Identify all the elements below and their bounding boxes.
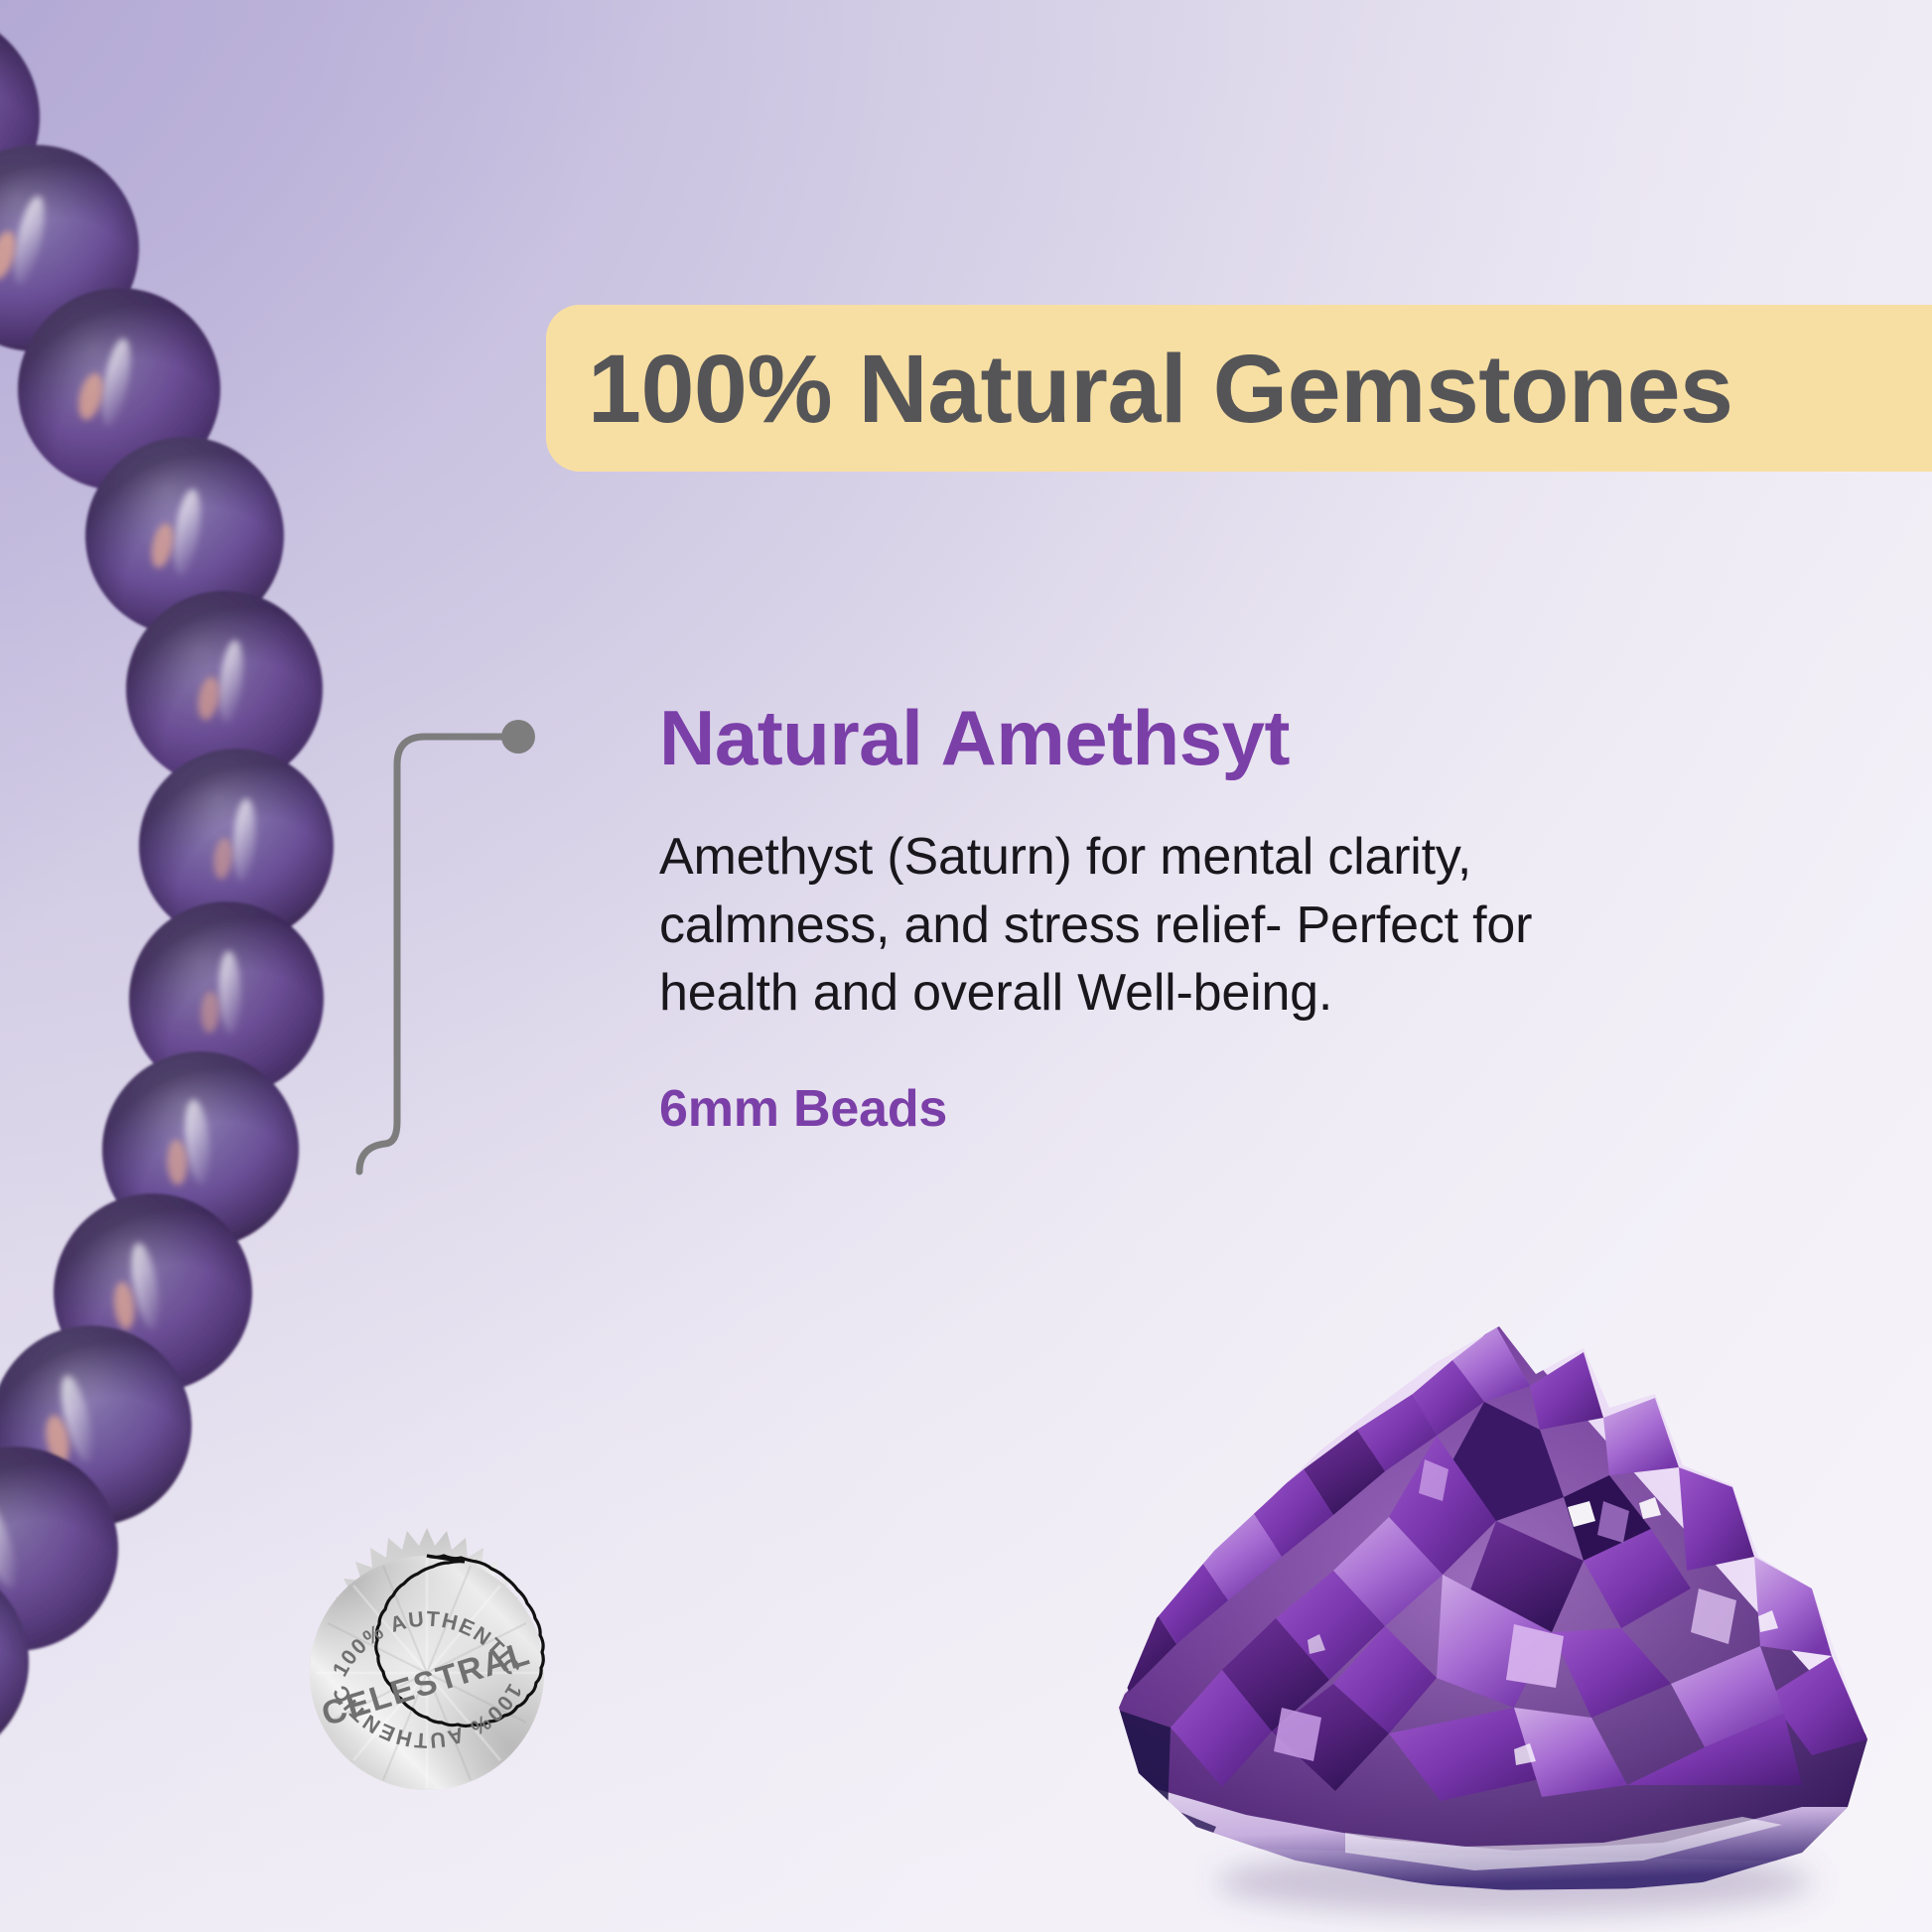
callout-connector-line [328,695,625,1211]
gemstone-bead-size: 6mm Beads [659,1079,1712,1139]
gemstone-description: Amethyst (Saturn) for mental clarity, ca… [659,823,1662,1028]
authenticity-badge-seal: 100% AUTHENTIC 100% AUTHENTIC CELESTRAL [278,1524,576,1822]
connector-endpoint-dot [501,720,535,754]
gemstone-title: Natural Amethsyt [659,698,1712,779]
headline-text: 100% Natural Gemstones [588,341,1732,437]
gemstone-callout-block: Natural Amethsyt Amethyst (Saturn) for m… [659,698,1712,1139]
headline-banner: 100% Natural Gemstones [546,305,1932,472]
amethyst-crystal-cluster [1047,1291,1931,1932]
infographic-canvas: 100% Natural Gemstones Natural Amethsyt … [0,0,1932,1932]
